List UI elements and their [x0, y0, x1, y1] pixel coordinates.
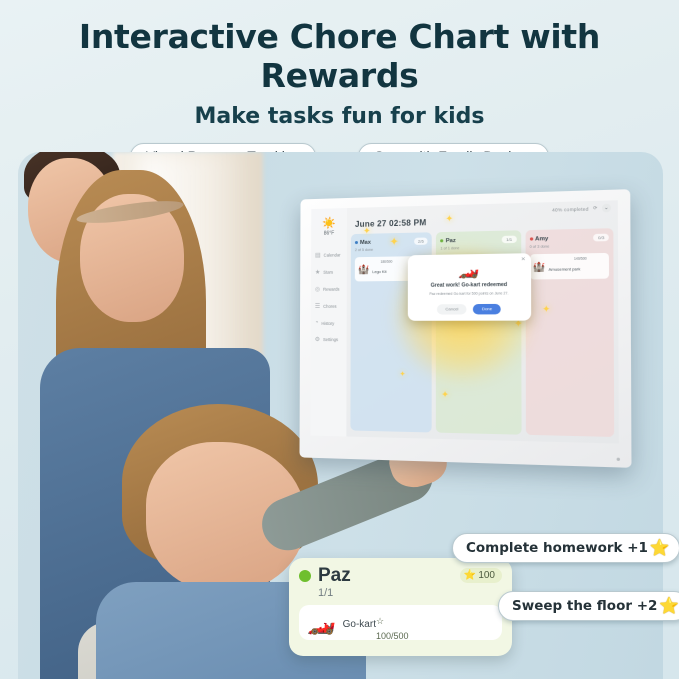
sidebar-item-label: History — [321, 320, 334, 325]
task-name: Amusement park — [549, 267, 581, 272]
calendar-icon: ▤ — [315, 252, 321, 259]
tablet-menu: ▤ Calendar ★ Stars ◎ Rewards ☰ — [311, 246, 347, 348]
sync-icon: ⟳ — [593, 205, 597, 212]
tablet-date-time: June 27 02:58 PM — [355, 218, 426, 229]
paz-card-header: Paz ⭐ 100 — [299, 566, 502, 585]
callout-complete-homework[interactable]: Complete homework +1 ⭐ — [452, 533, 679, 563]
task-name: Lego Kit — [372, 270, 386, 274]
reward-redeemed-modal[interactable]: ✕ 🏎️ Great work! Go-kart redeemed Paz re… — [408, 253, 531, 320]
column-name: Max — [360, 239, 371, 245]
sidebar-item-label: Settings — [323, 337, 338, 342]
paz-reward-name: Go-kart — [343, 619, 376, 630]
column-name-wrap: Max — [355, 239, 371, 245]
weather-widget: ☀️ 86°F — [311, 218, 347, 237]
paz-points-value: 100 — [478, 570, 495, 581]
modal-description: Paz redeemed Go-kart for 500 points on J… — [415, 291, 523, 297]
sidebar-item-calendar[interactable]: ▤ Calendar — [311, 246, 347, 264]
sidebar-item-settings[interactable]: ⚙ Settings — [311, 331, 347, 348]
status-dot — [355, 241, 358, 244]
list-icon: ☰ — [315, 303, 320, 310]
star-icon: ⭐ — [650, 538, 670, 557]
sidebar-item-label: Chores — [323, 304, 336, 309]
modal-title: Great work! Go-kart redeemed — [415, 282, 523, 289]
clock-icon: ◔ — [315, 320, 319, 326]
star-icon: ★ — [315, 269, 320, 276]
sparkle-icon: ✦ — [445, 213, 453, 225]
castle-icon: 🏰 — [358, 264, 369, 275]
tablet-indicator-led — [617, 458, 620, 461]
sidebar-item-rewards[interactable]: ◎ Rewards — [311, 281, 347, 298]
tablet-screen[interactable]: 40% completed ⟳ ⌄ ☀️ 86°F ▤ Calendar — [310, 200, 618, 443]
cancel-button[interactable]: Cancel — [437, 304, 467, 314]
column-header: Amy 0/3 — [530, 234, 609, 243]
paz-name: Paz — [318, 566, 351, 585]
paz-progress-card[interactable]: Paz ⭐ 100 1/1 🏎️ Go-kart ☆ 100/500 — [289, 558, 512, 656]
task-card[interactable]: 🏰 Amusement park 140/500 — [530, 253, 609, 280]
page-subtitle: Make tasks fun for kids — [0, 95, 679, 129]
done-button[interactable]: Done — [473, 303, 500, 314]
modal-actions: Cancel Done — [415, 303, 523, 314]
column-progress-badge: 0/3 — [594, 234, 609, 242]
paz-reward-body: Go-kart ☆ 100/500 — [343, 614, 494, 632]
sidebar-item-label: Calendar — [324, 252, 341, 257]
sun-icon: ☀️ — [311, 218, 347, 230]
paz-reward-row[interactable]: 🏎️ Go-kart ☆ 100/500 — [299, 605, 502, 640]
temperature-label: 86°F — [311, 230, 347, 237]
column-subtitle: 0 of 3 done — [530, 243, 609, 249]
callout-text: Complete homework +1 — [466, 540, 648, 556]
go-kart-icon: 🏎️ — [415, 261, 523, 281]
star-icon: ⭐ — [464, 570, 476, 581]
wifi-icon: ⌄ — [602, 204, 611, 213]
sidebar-item-history[interactable]: ◔ History — [311, 315, 347, 331]
promo-page: Interactive Chore Chart with Rewards Mak… — [0, 0, 679, 679]
paz-task-fraction: 1/1 — [318, 587, 502, 599]
callout-sweep-floor[interactable]: Sweep the floor +2 ⭐ — [498, 591, 679, 621]
callout-text: Sweep the floor +2 — [512, 598, 657, 614]
sidebar-item-stars[interactable]: ★ Stars — [311, 263, 347, 281]
gear-icon: ⚙ — [315, 336, 320, 343]
tablet-sidebar: ☀️ 86°F ▤ Calendar ★ Stars ◎ — [310, 208, 347, 436]
go-kart-icon: 🏎️ — [307, 611, 336, 634]
sidebar-item-chores[interactable]: ☰ Chores — [311, 298, 347, 315]
wall-mounted-tablet: 40% completed ⟳ ⌄ ☀️ 86°F ▤ Calendar — [299, 189, 631, 468]
sidebar-item-label: Stars — [323, 270, 333, 275]
close-icon[interactable]: ✕ — [521, 256, 526, 262]
completion-status-label: 40% completed — [552, 206, 589, 212]
paz-points-badge: ⭐ 100 — [460, 568, 502, 583]
task-body: Amusement park 140/500 — [548, 256, 605, 276]
gift-icon: ◎ — [315, 286, 320, 293]
status-dot — [299, 570, 311, 582]
page-title: Interactive Chore Chart with Rewards — [0, 0, 679, 95]
sidebar-item-label: Rewards — [323, 287, 339, 292]
paz-name-wrap: Paz — [299, 566, 351, 585]
star-icon: ⭐ — [659, 596, 679, 615]
kid-column-amy[interactable]: Amy 0/3 0 of 3 done 🏰 Amusement park — [525, 228, 614, 437]
tablet-status-bar: 40% completed ⟳ ⌄ — [552, 204, 611, 214]
